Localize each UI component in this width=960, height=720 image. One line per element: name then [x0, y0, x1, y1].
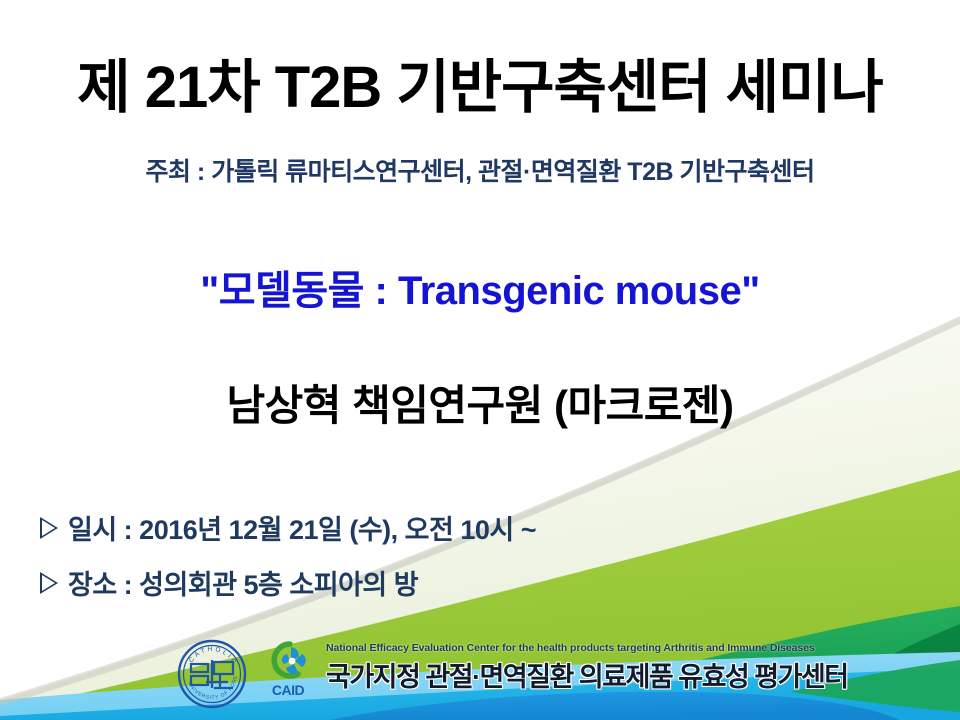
detail-datetime-row: 일시 : 2016년 12월 21일 (수), 오전 10시 ~: [40, 508, 536, 547]
footer-logo-bar: CATHOLIC UNIVERSITY OF KOREA: [0, 632, 960, 720]
caid-logo: CAID: [260, 640, 316, 698]
caid-mark-icon: [260, 640, 316, 682]
detail-venue-text: 장소 : 성의회관 5층 소피아의 방: [68, 563, 418, 602]
catholic-university-seal-icon: CATHOLIC UNIVERSITY OF KOREA: [176, 638, 248, 710]
slide-content: 제 21차 T2B 기반구축센터 세미나 주최 : 가톨릭 류마티스연구센터, …: [0, 0, 960, 720]
center-name-english: National Efficacy Evaluation Center for …: [326, 642, 848, 654]
seminar-topic: "모델동물 : Transgenic mouse": [0, 258, 960, 316]
speaker-name: 남상혁 책임연구원 (마크로젠): [0, 372, 960, 433]
seminar-poster-slide: 제 21차 T2B 기반구축센터 세미나 주최 : 가톨릭 류마티스연구센터, …: [0, 0, 960, 720]
detail-datetime-text: 일시 : 2016년 12월 21일 (수), 오전 10시 ~: [68, 508, 536, 547]
triangle-bullet-icon: [40, 517, 58, 539]
center-name-block: National Efficacy Evaluation Center for …: [326, 642, 848, 694]
host-organizations: 주최 : 가톨릭 류마티스연구센터, 관절·면역질환 T2B 기반구축센터: [0, 152, 960, 188]
page-title: 제 21차 T2B 기반구축센터 세미나: [0, 40, 960, 124]
caid-label: CAID: [260, 682, 316, 698]
detail-venue-row: 장소 : 성의회관 5층 소피아의 방: [40, 563, 418, 602]
center-name-korean: 국가지정 관절·면역질환 의료제품 유효성 평가센터: [326, 655, 848, 694]
triangle-bullet-icon: [40, 572, 58, 594]
